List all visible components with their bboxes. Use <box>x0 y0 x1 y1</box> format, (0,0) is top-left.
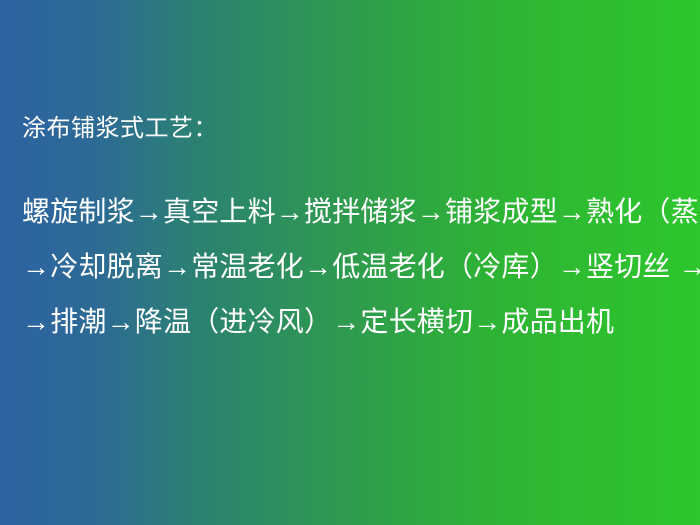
process-flow-line-1: 螺旋制浆→真空上料→搅拌储浆→铺浆成型→熟化（蒸汽蒸熟） <box>22 184 682 239</box>
process-flow-line-3: →排潮→降温（进冷风）→定长横切→成品出机 <box>22 294 682 349</box>
slide-canvas: 涂布铺浆式工艺： 螺旋制浆→真空上料→搅拌储浆→铺浆成型→熟化（蒸汽蒸熟） →冷… <box>0 0 700 525</box>
page-title: 涂布铺浆式工艺： <box>22 112 682 146</box>
process-flow-text: 螺旋制浆→真空上料→搅拌储浆→铺浆成型→熟化（蒸汽蒸熟） →冷却脱离→常温老化→… <box>22 184 682 349</box>
slide-content: 涂布铺浆式工艺： 螺旋制浆→真空上料→搅拌储浆→铺浆成型→熟化（蒸汽蒸熟） →冷… <box>22 112 682 349</box>
process-flow-line-2: →冷却脱离→常温老化→低温老化（冷库）→竖切丝 →定型干燥 <box>22 239 682 294</box>
